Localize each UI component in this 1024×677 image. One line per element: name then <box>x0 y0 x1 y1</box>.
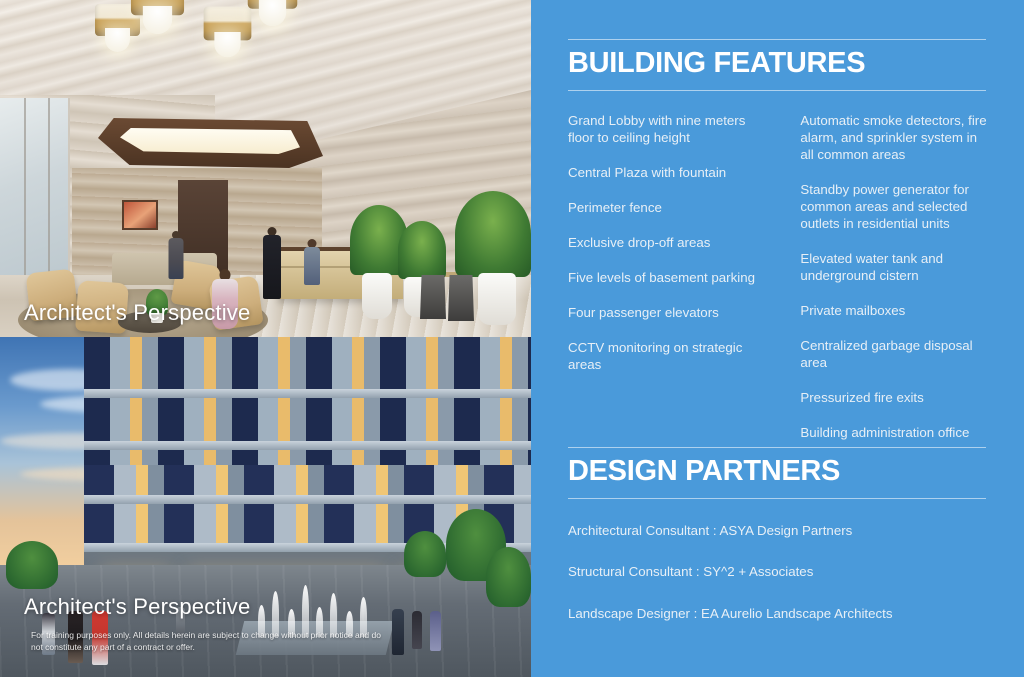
divider-line-top <box>568 447 986 448</box>
feature-item: Central Plaza with fountain <box>568 164 774 181</box>
feature-item: Exclusive drop-off areas <box>568 234 774 251</box>
feature-item: Automatic smoke detectors, fire alarm, a… <box>800 112 993 163</box>
floor-band <box>84 495 531 504</box>
decor-vessel <box>448 275 474 321</box>
info-panel: BUILDING FEATURES Grand Lobby with nine … <box>531 0 1024 677</box>
lobby-person <box>262 227 282 299</box>
divider-line-bottom <box>568 498 986 499</box>
plaza-person <box>412 611 422 649</box>
design-partners-heading: DESIGN PARTNERS <box>568 455 840 488</box>
lobby-image-caption: Architect's Perspective <box>24 300 250 326</box>
photo-column: Architect's Perspective Architect's Pers… <box>0 0 531 677</box>
decor-vessel <box>420 275 446 319</box>
divider-line-top <box>568 39 986 40</box>
partner-item: Landscape Designer : EA Aurelio Landscap… <box>568 605 998 622</box>
brochure-page: Architect's Perspective Architect's Pers… <box>0 0 1024 677</box>
design-partners-list: Architectural Consultant : ASYA Design P… <box>568 522 998 646</box>
planter-pot <box>362 273 392 319</box>
planter-pot <box>478 273 516 325</box>
floor-band <box>84 389 531 398</box>
partner-item: Structural Consultant : SY^2 + Associate… <box>568 563 998 580</box>
lobby-glass-curtain-wall <box>0 98 70 283</box>
exterior-perspective-image <box>0 337 531 677</box>
building-features-list: Grand Lobby with nine meters floor to ce… <box>568 112 993 459</box>
feature-item: Perimeter fence <box>568 199 774 216</box>
building-features-heading: BUILDING FEATURES <box>568 47 865 80</box>
feature-item: Centralized garbage disposal area <box>800 337 993 371</box>
plaza-person <box>430 611 441 651</box>
legal-disclaimer: For training purposes only. All details … <box>31 629 391 654</box>
landscape-tree <box>6 541 58 589</box>
feature-item: Private mailboxes <box>800 302 993 319</box>
wall-artwork <box>122 200 158 230</box>
feature-item: Elevated water tank and underground cist… <box>800 250 993 284</box>
landscape-tree <box>486 547 531 607</box>
feature-item: Five levels of basement parking <box>568 269 774 286</box>
indoor-palm-plant <box>455 191 531 277</box>
feature-item: CCTV monitoring on strategic areas <box>568 339 774 373</box>
feature-item: Grand Lobby with nine meters floor to ce… <box>568 112 774 146</box>
features-left-column: Grand Lobby with nine meters floor to ce… <box>568 112 774 459</box>
landscape-tree <box>404 531 446 577</box>
plaza-person <box>392 609 404 655</box>
pendant-lamp-icon <box>204 7 252 60</box>
feature-item: Four passenger elevators <box>568 304 774 321</box>
partner-item: Architectural Consultant : ASYA Design P… <box>568 522 998 539</box>
lobby-person <box>168 231 184 279</box>
indoor-palm-plant <box>398 221 446 279</box>
pendant-lamp-icon <box>131 0 184 37</box>
lobby-receptionist <box>303 239 321 285</box>
feature-item: Building administration office <box>800 424 993 441</box>
pendant-lamp-icon <box>248 0 298 29</box>
soffit-cove-light <box>120 128 300 154</box>
divider-line-bottom <box>568 90 986 91</box>
exterior-image-caption: Architect's Perspective <box>24 594 250 620</box>
lobby-perspective-image <box>0 0 531 337</box>
feature-item: Pressurized fire exits <box>800 389 993 406</box>
floor-band <box>84 441 531 450</box>
feature-item: Standby power generator for common areas… <box>800 181 993 232</box>
features-right-column: Automatic smoke detectors, fire alarm, a… <box>800 112 993 459</box>
